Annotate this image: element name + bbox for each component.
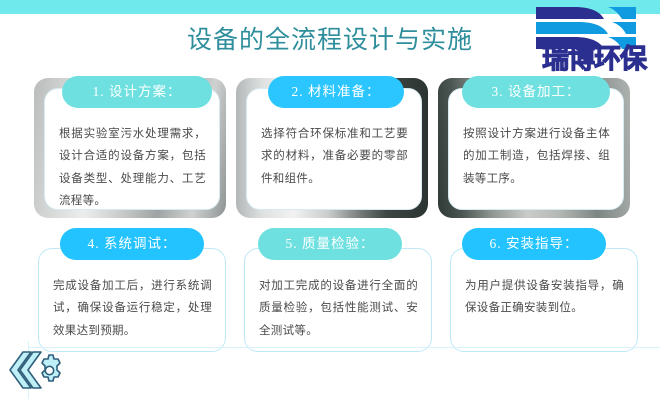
step-card-5[interactable]: 对加工完成的设备进行全面的质量检验，包括性能测试、安全测试等。 <box>244 248 432 352</box>
step-card-4[interactable]: 完成设备加工后，进行系统调试，确保设备运行稳定，处理效果达到预期。 <box>38 248 226 352</box>
gear-chevrons-icon <box>6 348 62 394</box>
step-card-2-body: 选择符合环保标准和工艺要求的材料，准备必要的零部件和组件。 <box>261 123 408 190</box>
step-header-6[interactable]: 6. 安装指导： <box>462 228 606 260</box>
step-header-3[interactable]: 3. 设备加工： <box>462 76 610 108</box>
step-header-5[interactable]: 5. 质量检验： <box>258 228 402 260</box>
step-card-1-body: 根据实验室污水处理需求，设计合适的设备方案，包括设备类型、处理能力、工艺流程等。 <box>59 123 206 213</box>
brand-logo: 瑞博环保 <box>502 4 652 74</box>
brand-name: 瑞博环保 <box>542 46 646 73</box>
step-card-6[interactable]: 为用户提供设备安装指导，确保设备正确安装到位。 <box>450 248 638 352</box>
guide-line-horizontal <box>28 347 660 348</box>
step-card-6-body: 为用户提供设备安装指导，确保设备正确安装到位。 <box>465 275 624 320</box>
step-card-3-body: 按照设计方案进行设备主体的加工制造，包括焊接、组装等工序。 <box>463 123 610 190</box>
step-card-5-body: 对加工完成的设备进行全面的质量检验，包括性能测试、安全测试等。 <box>259 275 418 342</box>
step-header-1[interactable]: 1. 设计方案： <box>62 76 212 108</box>
step-header-4[interactable]: 4. 系统调试： <box>60 228 204 260</box>
step-header-2[interactable]: 2. 材料准备： <box>268 76 404 108</box>
step-card-4-body: 完成设备加工后，进行系统调试，确保设备运行稳定，处理效果达到预期。 <box>53 275 212 342</box>
